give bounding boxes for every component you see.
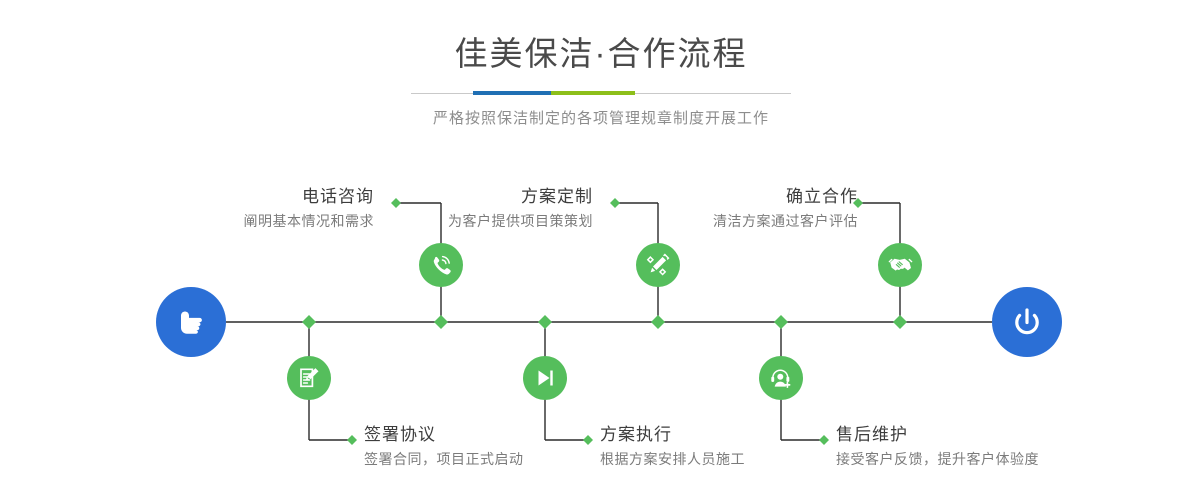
step-title-3: 方案定制	[448, 186, 593, 208]
phone-call-icon	[428, 252, 454, 278]
step-title-4: 方案执行	[600, 424, 745, 446]
flow-label-step-3: 方案定制 为客户提供项目策策划	[448, 186, 593, 232]
flow-label-step-5: 确立合作 清洁方案通过客户评估	[713, 186, 858, 232]
label-diamond-step-4	[583, 435, 593, 445]
pointing-hand-icon	[171, 302, 211, 342]
handshake-icon	[887, 252, 914, 279]
power-icon	[1007, 302, 1047, 342]
spine-diamond-step-4	[538, 315, 552, 329]
step-title-1: 电话咨询	[244, 186, 375, 208]
flow-node-step-4[interactable]	[523, 356, 567, 400]
label-diamond-step-1	[391, 198, 401, 208]
label-diamond-step-6	[819, 435, 829, 445]
infographic-canvas: 佳美保洁·合作流程 严格按照保洁制定的各项管理规章制度开展工作	[0, 0, 1202, 502]
flow-node-step-6[interactable]	[759, 356, 803, 400]
label-diamond-step-2	[347, 435, 357, 445]
flow-end-endpoint[interactable]	[992, 287, 1062, 357]
spine-diamond-step-5	[893, 315, 907, 329]
customer-support-add-icon	[768, 365, 794, 391]
play-execute-icon	[532, 365, 558, 391]
flow-node-step-5[interactable]	[878, 243, 922, 287]
flow-label-step-1: 电话咨询 阐明基本情况和需求	[244, 186, 375, 232]
process-flow-diagram: 电话咨询 阐明基本情况和需求 方案定制 为客户提供项目策策划	[0, 0, 1202, 502]
step-desc-1: 阐明基本情况和需求	[244, 210, 375, 232]
spine-diamond-step-6	[774, 315, 788, 329]
spine-diamond-step-3	[651, 315, 665, 329]
flow-label-step-4: 方案执行 根据方案安排人员施工	[600, 424, 745, 470]
flow-label-step-2: 签署协议 签署合同，项目正式启动	[364, 424, 524, 470]
flow-label-step-6: 售后维护 接受客户反馈，提升客户体验度	[836, 424, 1039, 470]
flow-node-step-3[interactable]	[636, 243, 680, 287]
spine-diamond-step-2	[302, 315, 316, 329]
flow-node-step-2[interactable]	[287, 356, 331, 400]
step-title-2: 签署协议	[364, 424, 524, 446]
step-desc-4: 根据方案安排人员施工	[600, 448, 745, 470]
step-title-6: 售后维护	[836, 424, 1039, 446]
sign-document-icon	[296, 365, 322, 391]
pencil-design-icon	[645, 252, 671, 278]
step-desc-3: 为客户提供项目策策划	[448, 210, 593, 232]
flow-start-endpoint[interactable]	[156, 287, 226, 357]
spine-diamond-step-1	[434, 315, 448, 329]
step-title-5: 确立合作	[713, 186, 858, 208]
flow-node-step-1[interactable]	[419, 243, 463, 287]
step-desc-6: 接受客户反馈，提升客户体验度	[836, 448, 1039, 470]
label-diamond-step-3	[610, 198, 620, 208]
step-desc-5: 清洁方案通过客户评估	[713, 210, 858, 232]
step-desc-2: 签署合同，项目正式启动	[364, 448, 524, 470]
